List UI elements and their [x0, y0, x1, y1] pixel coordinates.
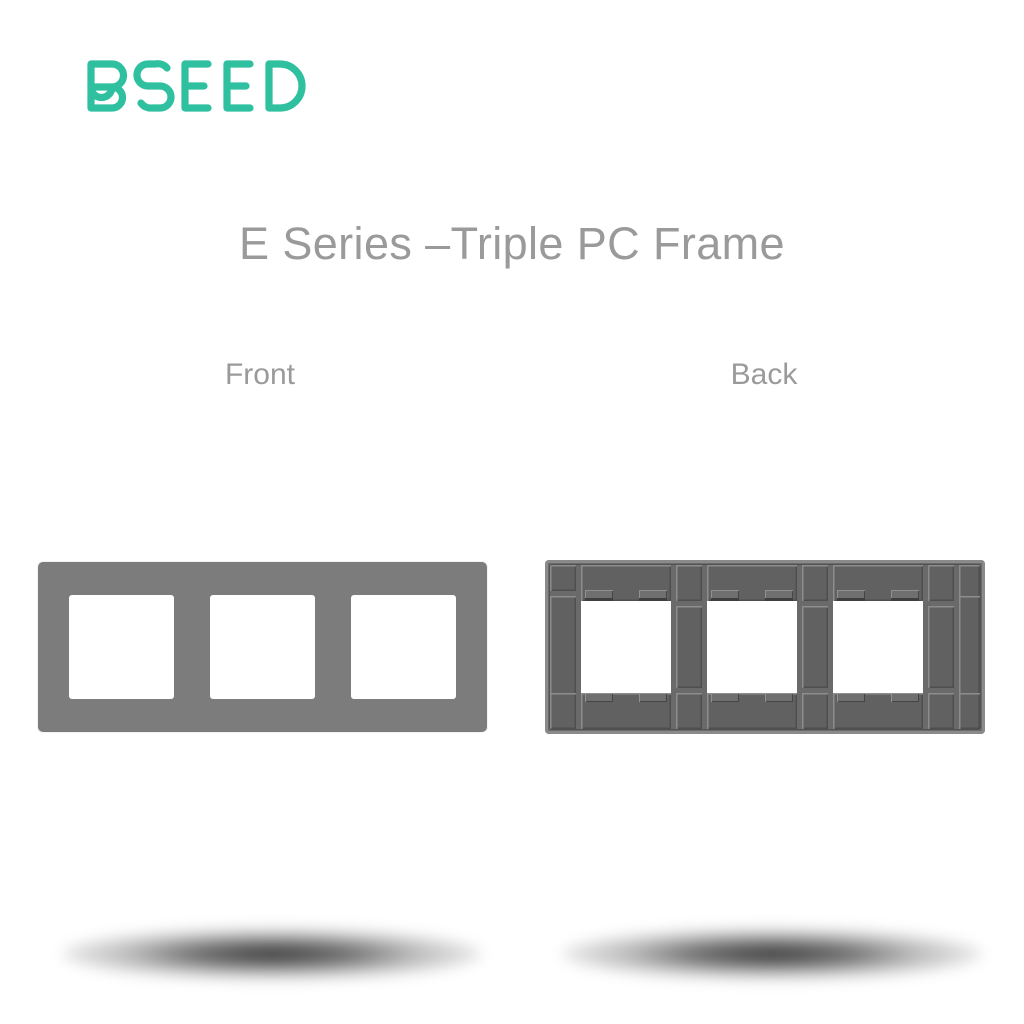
back-pocket-top-left-corner — [550, 565, 576, 591]
back-clip-bottom-1a — [585, 693, 613, 702]
back-pocket-bottom-left-corner — [550, 693, 576, 729]
back-pocket-bottom-div-1 — [676, 693, 702, 729]
product-front-view — [38, 562, 487, 732]
bseed-wordmark-logo — [86, 58, 306, 114]
back-clip-bottom-2a — [711, 693, 739, 702]
back-opening-2 — [707, 601, 797, 693]
back-clip-bottom-2b — [765, 693, 793, 702]
back-pocket-top-div-3 — [928, 565, 954, 601]
front-faceplate — [38, 562, 487, 732]
product-back-view — [545, 560, 985, 734]
back-pocket-divider-3 — [928, 606, 954, 688]
back-faceplate — [545, 560, 985, 734]
back-opening-1 — [581, 601, 671, 693]
front-drop-shadow — [62, 928, 482, 980]
back-pocket-right-edge — [959, 596, 980, 698]
back-pocket-bottom-div-3 — [928, 693, 954, 729]
back-clip-shadow-top-1b — [639, 598, 667, 601]
back-opening-3 — [833, 601, 923, 693]
page-title: E Series –Triple PC Frame — [0, 218, 1024, 270]
back-pocket-top-div-1 — [676, 565, 702, 601]
back-clip-bottom-3b — [891, 693, 919, 702]
back-clip-shadow-top-2a — [711, 598, 739, 601]
view-label-front: Front — [163, 358, 357, 392]
brand-logo — [86, 58, 306, 114]
front-opening-1 — [69, 595, 174, 699]
front-opening-3 — [351, 595, 456, 699]
back-clip-bottom-1b — [639, 693, 667, 702]
back-pocket-top-div-2 — [802, 565, 828, 601]
back-pocket-bottom-div-2 — [802, 693, 828, 729]
back-pocket-divider-1 — [676, 606, 702, 688]
back-pocket-bottom-right-corner — [959, 693, 980, 729]
back-clip-shadow-top-3a — [837, 598, 865, 601]
back-pocket-left-edge — [550, 596, 576, 698]
back-drop-shadow — [562, 928, 982, 980]
back-clip-shadow-top-3b — [891, 598, 919, 601]
back-clip-bottom-3a — [837, 693, 865, 702]
back-clip-shadow-top-2b — [765, 598, 793, 601]
back-clip-shadow-top-1a — [585, 598, 613, 601]
view-label-back: Back — [667, 358, 861, 392]
back-pocket-divider-2 — [802, 606, 828, 688]
front-opening-2 — [210, 595, 315, 699]
